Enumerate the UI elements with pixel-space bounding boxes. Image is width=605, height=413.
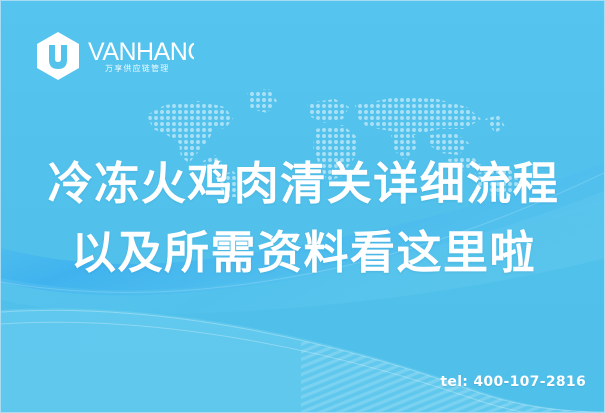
contact-phone[interactable]: tel: 400-107-2816 <box>440 374 586 390</box>
brand-wordmark: VANHANG 万享供应链管理 <box>88 34 194 78</box>
headline-line-2: 以及所需资料看这里啦 <box>1 218 605 287</box>
page-title: 冷冻火鸡肉清关详细流程 以及所需资料看这里啦 <box>1 149 605 287</box>
headline-line-1: 冷冻火鸡肉清关详细流程 <box>1 149 605 218</box>
wordmark-text: VANHANG <box>88 38 194 66</box>
brand-logo[interactable]: VANHANG 万享供应链管理 <box>35 31 194 81</box>
promo-banner: VANHANG 万享供应链管理 冷冻火鸡肉清关详细流程 以及所需资料看这里啦 t… <box>0 0 605 413</box>
vanhang-hexagon-icon <box>35 31 81 81</box>
wordmark-subtitle: 万享供应链管理 <box>105 63 169 73</box>
